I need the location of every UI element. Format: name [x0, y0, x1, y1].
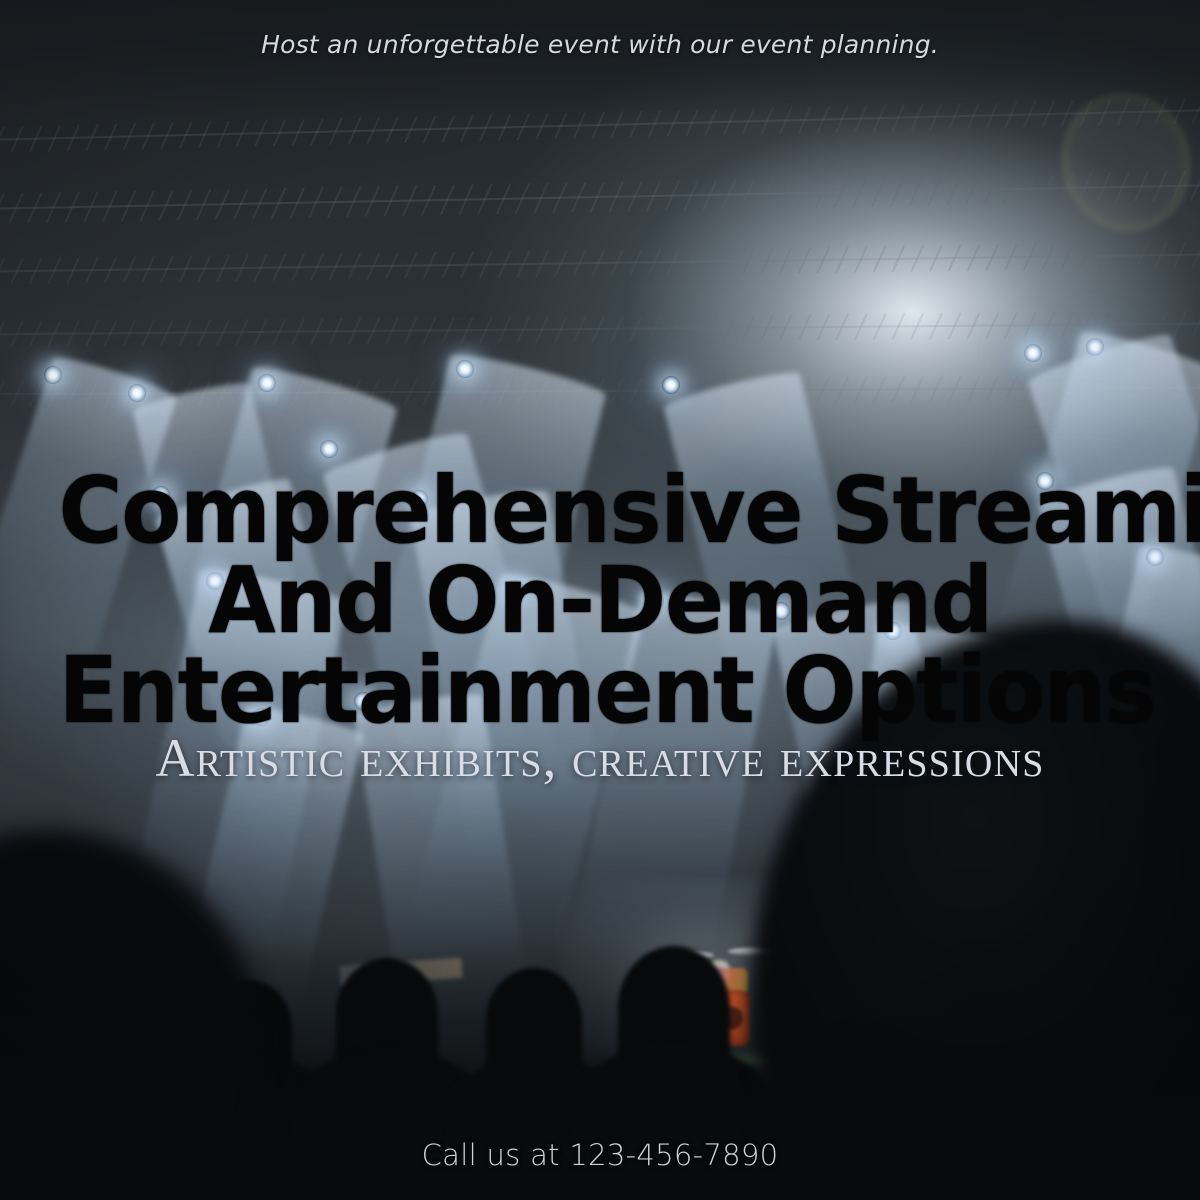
- contact-phone: Call us at 123-456-7890: [0, 1138, 1200, 1172]
- headline-line-2: And On-Demand: [59, 556, 1142, 646]
- headline-line-1: Comprehensive Streaming: [59, 466, 1142, 556]
- subtitle: Artistic exhibits, creative expressions: [0, 727, 1200, 789]
- poster-content: Host an unforgettable event with our eve…: [0, 0, 1200, 1200]
- page-title: Comprehensive Streaming And On-Demand En…: [59, 466, 1142, 736]
- promo-poster: Host an unforgettable event with our eve…: [0, 0, 1200, 1200]
- headline-line-3: Entertainment Options: [59, 646, 1142, 736]
- tagline: Host an unforgettable event with our eve…: [0, 30, 1200, 59]
